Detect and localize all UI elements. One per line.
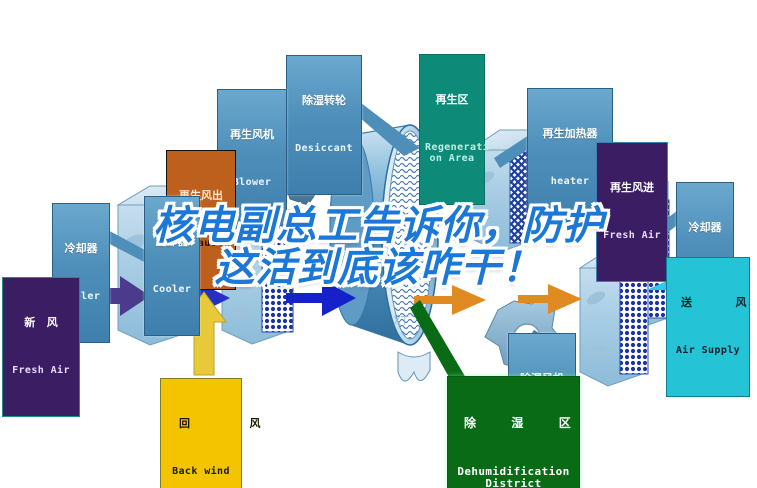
label-air-supply: 送 风 Air Supply xyxy=(666,257,750,397)
label-cooler-left-1-cn: 冷却器 xyxy=(58,243,104,255)
label-back-wind: 回 风 Back wind xyxy=(160,378,242,488)
label-regen-heater-cn: 再生加热器 xyxy=(533,128,607,140)
label-back-wind-cn: 回 风 xyxy=(167,418,235,430)
diagram-canvas: XT xyxy=(0,0,757,488)
regen-bottom-duct-arrow xyxy=(356,268,596,276)
label-air-supply-cn: 送 风 xyxy=(673,297,743,309)
label-regeneration-area-cn: 再生区 xyxy=(425,94,479,106)
label-regen-fresh-air-en: Fresh Air xyxy=(603,230,661,241)
label-dehumidification-district-en: Dehumidification District xyxy=(455,466,572,488)
label-fresh-air: 新 风 Fresh Air xyxy=(2,277,80,417)
label-dehumidification-district: 除 湿 区 Dehumidification District xyxy=(447,376,580,488)
label-back-wind-en: Back wind xyxy=(167,466,235,477)
label-desiccant-cn: 除湿转轮 xyxy=(292,95,356,107)
label-regen-fresh-air: 再生风进 Fresh Air xyxy=(596,142,668,282)
label-fresh-air-en: Fresh Air xyxy=(9,365,73,376)
label-cooler-left-2: 冷却器 Cooler xyxy=(144,196,200,336)
label-desiccant: 除湿转轮 Desiccant xyxy=(286,55,362,195)
label-regeneration-area: 再生区 Regenerati on Area xyxy=(419,54,485,205)
label-air-supply-en: Air Supply xyxy=(673,345,743,356)
label-regen-blower-cn: 再生风机 xyxy=(223,129,281,141)
label-desiccant-en: Desiccant xyxy=(292,143,356,154)
label-cooler-left-2-cn: 冷却器 xyxy=(150,236,194,248)
label-cooler-right-cn: 冷却器 xyxy=(682,222,728,234)
label-fresh-air-cn: 新 风 xyxy=(9,317,73,329)
label-regeneration-area-en: Regenerati on Area xyxy=(425,142,479,164)
svg-text:XT: XT xyxy=(393,314,409,328)
label-cooler-left-2-en: Cooler xyxy=(150,284,194,295)
label-regen-fresh-air-cn: 再生风进 xyxy=(603,182,661,194)
label-dehumidification-district-cn: 除 湿 区 xyxy=(455,417,572,430)
